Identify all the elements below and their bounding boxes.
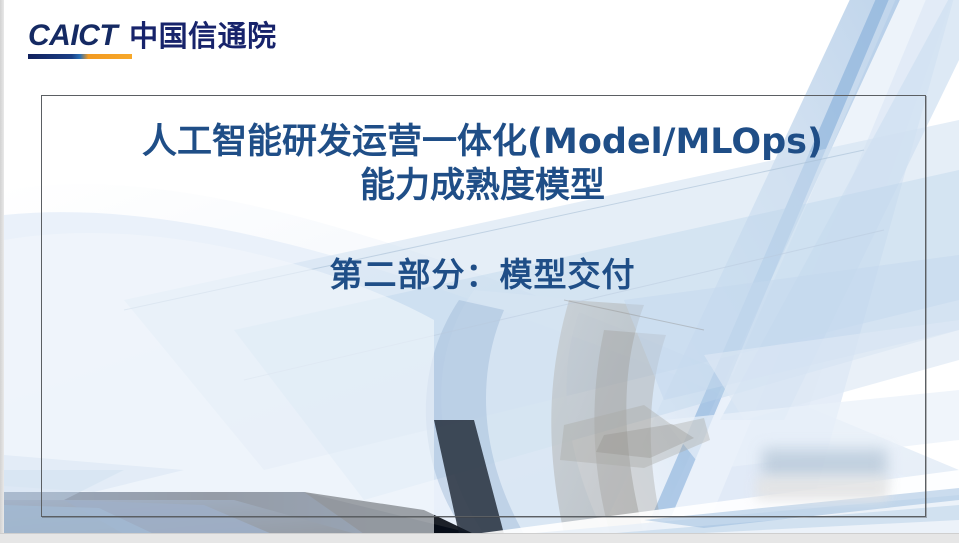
page-subtitle: 第二部分：模型交付 — [41, 208, 924, 295]
page-title-line-1: 人工智能研发运营一体化(Model/MLOps) — [142, 122, 823, 162]
logo-acronym: CAICT — [28, 19, 117, 52]
slide-viewer: CAICT 中国信通院 人工智能研发运营一体化(Model/MLOps) 能力成… — [0, 0, 959, 543]
caict-logo: CAICT 中国信通院 — [28, 21, 277, 60]
logo-chinese-name: 中国信通院 — [129, 21, 277, 52]
blurred-object-shadow — [756, 478, 888, 500]
title-block: 人工智能研发运营一体化(Model/MLOps) 能力成熟度模型 第二部分：模型… — [41, 120, 924, 295]
viewer-left-edge — [0, 0, 4, 543]
page-title: 人工智能研发运营一体化(Model/MLOps) 能力成熟度模型 — [41, 120, 924, 208]
slide-canvas: CAICT 中国信通院 人工智能研发运营一体化(Model/MLOps) 能力成… — [4, 0, 959, 534]
logo-underline-bar — [28, 54, 132, 59]
page-title-line-2: 能力成熟度模型 — [41, 164, 924, 208]
logo-acronym-wrap: CAICT — [28, 21, 117, 60]
viewer-bottom-edge — [0, 533, 959, 543]
